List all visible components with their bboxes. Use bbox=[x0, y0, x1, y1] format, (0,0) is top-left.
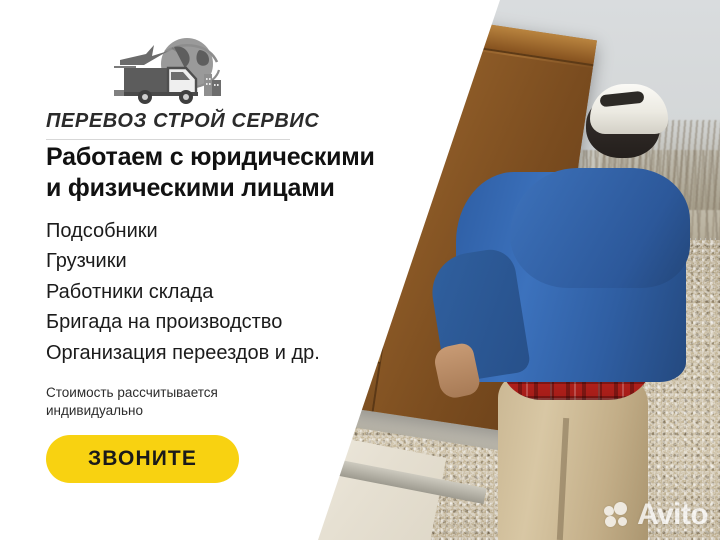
list-item: Подсобники bbox=[46, 216, 386, 246]
brand-name: ПЕРЕВОЗ СТРОЙ СЕРВИС bbox=[46, 110, 286, 133]
brand-logo: ПЕРЕВОЗ СТРОЙ СЕРВИС bbox=[46, 34, 286, 140]
pricing-note: Стоимость рассчитывается индивидуально bbox=[46, 384, 296, 420]
list-item: Организация переездов и др. bbox=[46, 338, 386, 368]
content-panel: ПЕРЕВОЗ СТРОЙ СЕРВИС Работаем с юридичес… bbox=[0, 0, 400, 540]
hoodie-hood bbox=[510, 168, 690, 288]
logo-divider bbox=[46, 139, 290, 140]
headline-line-2: и физическими лицами bbox=[46, 174, 335, 202]
list-item: Работники склада bbox=[46, 277, 386, 307]
globe-truck-plane-logo-icon bbox=[108, 34, 224, 108]
page-title: Работаем с юридическими и физическими ли… bbox=[46, 142, 396, 203]
list-item: Грузчики bbox=[46, 246, 386, 276]
headline-line-1: Работаем с юридическими bbox=[46, 143, 375, 171]
pricing-note-line-2: индивидуально bbox=[46, 403, 143, 418]
list-item: Бригада на производство bbox=[46, 307, 386, 337]
advertisement-banner: ПЕРЕВОЗ СТРОЙ СЕРВИС Работаем с юридичес… bbox=[0, 0, 720, 540]
call-button[interactable]: ЗВОНИТЕ bbox=[46, 435, 239, 483]
pricing-note-line-1: Стоимость рассчитывается bbox=[46, 385, 218, 400]
services-list: Подсобники Грузчики Работники склада Бри… bbox=[46, 216, 386, 368]
